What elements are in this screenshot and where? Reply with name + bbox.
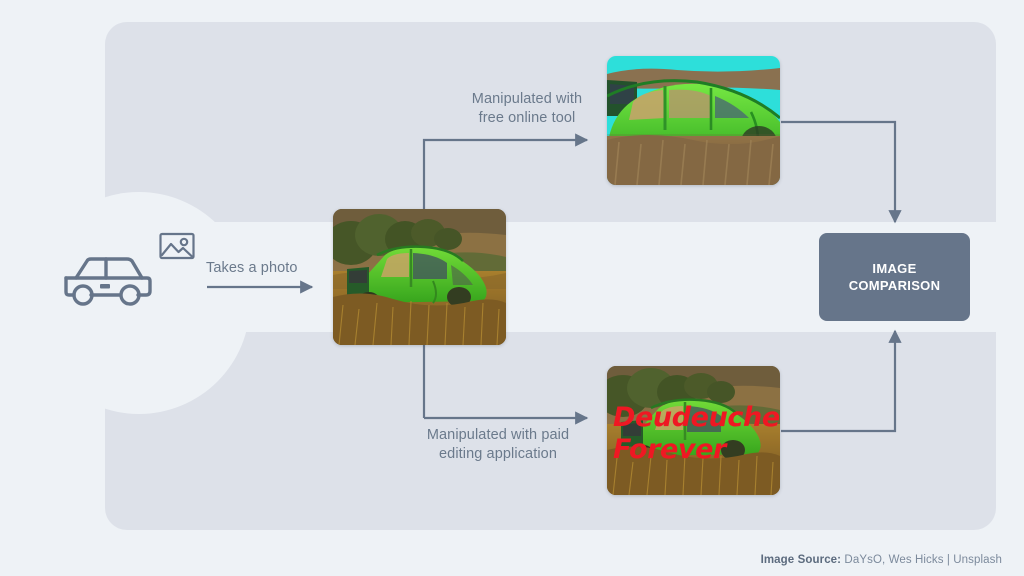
image-comparison-label: IMAGE COMPARISON — [849, 260, 941, 294]
image-source-label: Image Source: — [761, 554, 842, 566]
comparison-line2: COMPARISON — [849, 278, 941, 293]
arrow-paid-to-comparison — [781, 331, 895, 431]
diagram-canvas: Takes a photo Manipulated with free onli… — [0, 0, 1024, 576]
comparison-line1: IMAGE — [872, 261, 916, 276]
free-tool-photo[interactable] — [607, 56, 780, 185]
paid-tool-photo[interactable]: Deudeuche Forever — [607, 366, 780, 495]
arrow-free-to-comparison — [781, 122, 895, 222]
image-comparison-node[interactable]: IMAGE COMPARISON — [819, 233, 970, 321]
original-photo[interactable] — [333, 209, 506, 345]
image-source-value: DaYsO, Wes Hicks | Unsplash — [844, 554, 1002, 566]
image-source-credit: Image Source: DaYsO, Wes Hicks | Unsplas… — [761, 554, 1002, 566]
